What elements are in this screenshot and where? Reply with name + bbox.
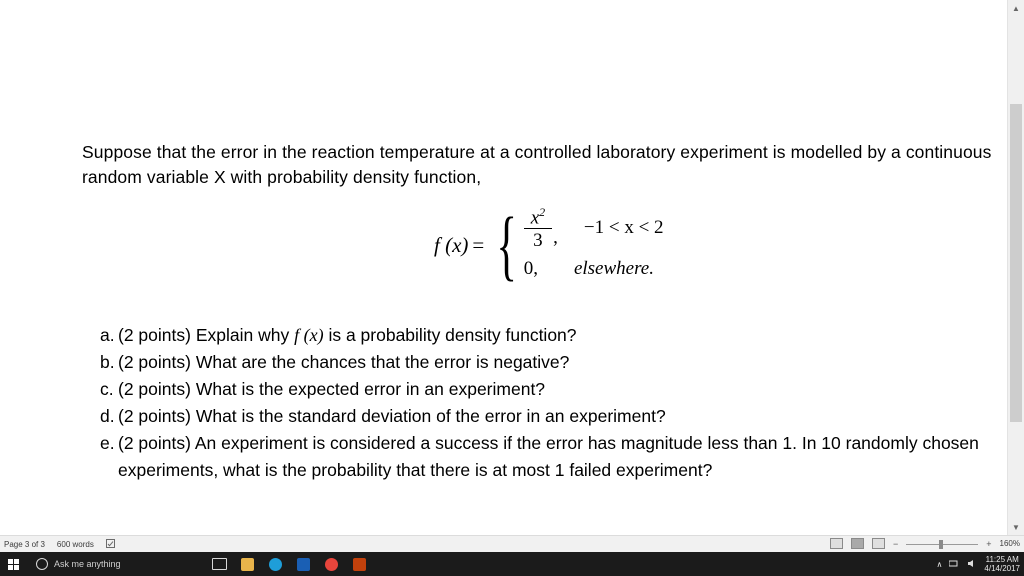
question-text-before: What is the standard deviation of the er… [196,406,666,426]
cortana-circle-icon [36,558,48,570]
powerpoint-icon[interactable] [346,552,372,576]
points-tag: (2 points) [118,433,191,453]
spellcheck-icon[interactable] [106,539,115,550]
formula-comma: , [553,227,558,252]
zoom-level-label[interactable]: 160% [1000,539,1020,548]
zoom-out-button[interactable]: − [893,539,898,549]
pdf-formula: f (x) = { x2 3 , −1 < x < 2 [82,204,1004,312]
formula-exponent: 2 [539,205,545,219]
edge-browser-icon[interactable] [262,552,288,576]
clock[interactable]: 11:25 AM 4/14/2017 [984,555,1020,573]
read-mode-view-button[interactable] [830,538,843,549]
list-item: e. (2 points) An experiment is considere… [82,430,1004,484]
clock-time: 11:25 AM [984,555,1020,564]
list-item-text: (2 points) Explain why f (x) is a probab… [118,322,1004,349]
list-item: d. (2 points) What is the standard devia… [82,403,1004,430]
points-tag: (2 points) [118,325,191,345]
question-list: a. (2 points) Explain why f (x) is a pro… [82,322,1004,484]
network-icon[interactable] [949,559,960,570]
tray-chevron-icon[interactable]: ∧ [937,560,943,569]
search-placeholder: Ask me anything [54,559,121,569]
formula-equals: = [472,233,484,258]
question-text-before: What are the chances that the error is n… [196,352,570,372]
windows-taskbar: Ask me anything ∧ 11:25 AM 4/14/2017 [0,552,1024,576]
formula-condition: −1 < x < 2 [584,217,664,239]
list-item-label: a. [82,322,118,349]
formula-denominator: 3 [533,229,543,250]
intro-paragraph: Suppose that the error in the reaction t… [82,140,1004,190]
formula-numerator: x2 [524,206,552,228]
screen: Suppose that the error in the reaction t… [0,0,1024,576]
windows-logo-icon [8,559,19,570]
zoom-slider-knob[interactable] [939,540,943,549]
formula-elsewhere: elsewhere. [574,258,654,280]
volume-icon[interactable] [967,559,977,570]
formula-case-first: x2 3 , −1 < x < 2 [524,204,664,252]
list-item-text: (2 points) What is the standard deviatio… [118,403,1004,430]
list-item-label: e. [82,430,118,484]
points-tag: (2 points) [118,406,191,426]
search-input[interactable]: Ask me anything [28,552,208,576]
web-layout-view-button[interactable] [872,538,885,549]
list-item: b. (2 points) What are the chances that … [82,349,1004,376]
windows-start-icon[interactable] [0,552,26,576]
system-tray: ∧ 11:25 AM 4/14/2017 [937,552,1020,576]
outlook-icon[interactable] [290,552,316,576]
question-text-before: An experiment is considered a success if… [118,433,979,480]
question-inline-math: f (x) [294,325,323,345]
list-item: a. (2 points) Explain why f (x) is a pro… [82,322,1004,349]
formula-case-second: 0, elsewhere. [524,252,664,286]
scroll-down-arrow[interactable]: ▼ [1008,519,1024,536]
list-item-text: (2 points) An experiment is considered a… [118,430,1004,484]
list-item-text: (2 points) What are the chances that the… [118,349,1004,376]
formula-brace: { [497,215,518,276]
list-item-label: c. [82,376,118,403]
question-text-after: is a probability density function? [328,325,576,345]
question-text-before: What is the expected error in an experim… [196,379,545,399]
task-view-icon[interactable] [206,552,232,576]
document-page: Suppose that the error in the reaction t… [0,0,1008,536]
question-text-before: Explain why [196,325,289,345]
formula-zero-case: 0, [524,258,538,280]
list-item-label: b. [82,349,118,376]
zoom-in-button[interactable]: + [986,539,991,549]
taskbar-app-icons [206,552,372,576]
word-count[interactable]: 600 words [57,540,94,549]
clock-date: 4/14/2017 [984,564,1020,573]
formula-fraction: x2 3 [524,206,552,251]
zoom-slider[interactable] [906,539,978,549]
document-content: Suppose that the error in the reaction t… [82,140,1004,484]
word-status-bar: Page 3 of 3 600 words − + 160% [0,535,1024,552]
list-item: c. (2 points) What is the expected error… [82,376,1004,403]
page-indicator[interactable]: Page 3 of 3 [4,540,45,549]
points-tag: (2 points) [118,352,191,372]
points-tag: (2 points) [118,379,191,399]
scroll-up-arrow[interactable]: ▲ [1008,0,1024,17]
list-item-label: d. [82,403,118,430]
print-layout-view-button[interactable] [851,538,864,549]
vertical-scrollbar[interactable]: ▲ ▼ [1007,0,1024,536]
formula-function-name: f (x) [434,233,468,258]
chrome-icon[interactable] [318,552,344,576]
scrollbar-thumb[interactable] [1010,104,1022,422]
file-explorer-icon[interactable] [234,552,260,576]
list-item-text: (2 points) What is the expected error in… [118,376,1004,403]
